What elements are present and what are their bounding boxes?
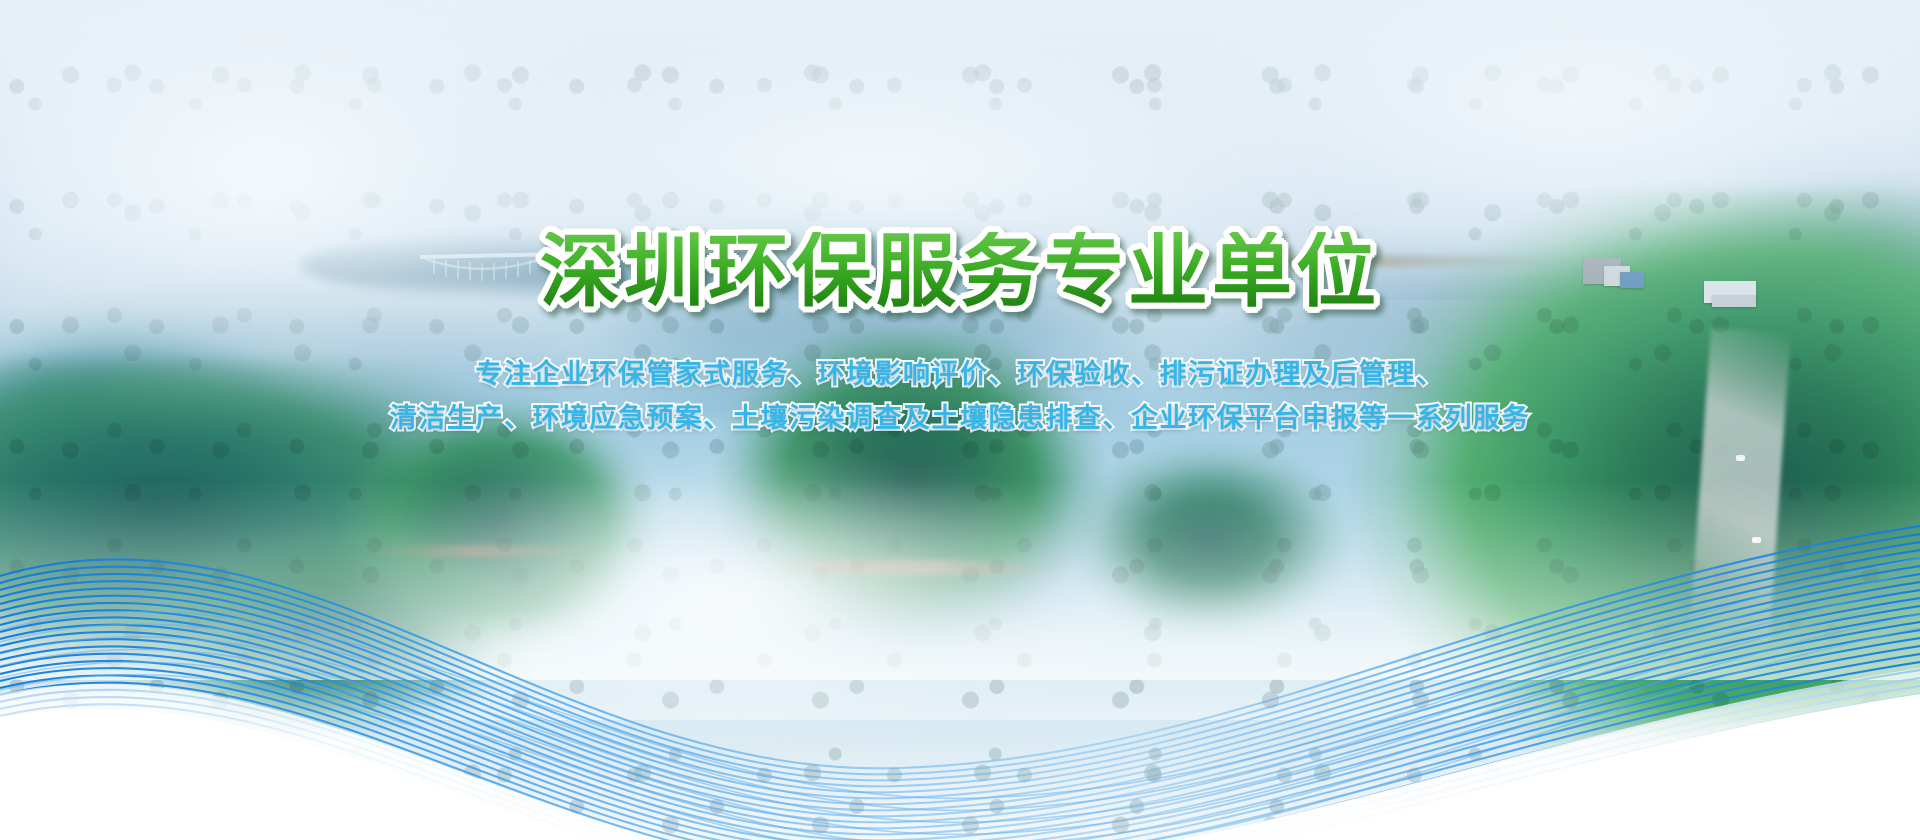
wave-ribbon-svg <box>0 480 1920 840</box>
wave-decoration <box>0 480 1920 840</box>
hero-banner: 深圳环保服务专业单位 专注企业环保管家式服务、环境影响评价、环保验收、排污证办理… <box>0 0 1920 840</box>
fog-bank-right <box>1150 0 1920 300</box>
road-vehicle <box>1736 455 1745 461</box>
